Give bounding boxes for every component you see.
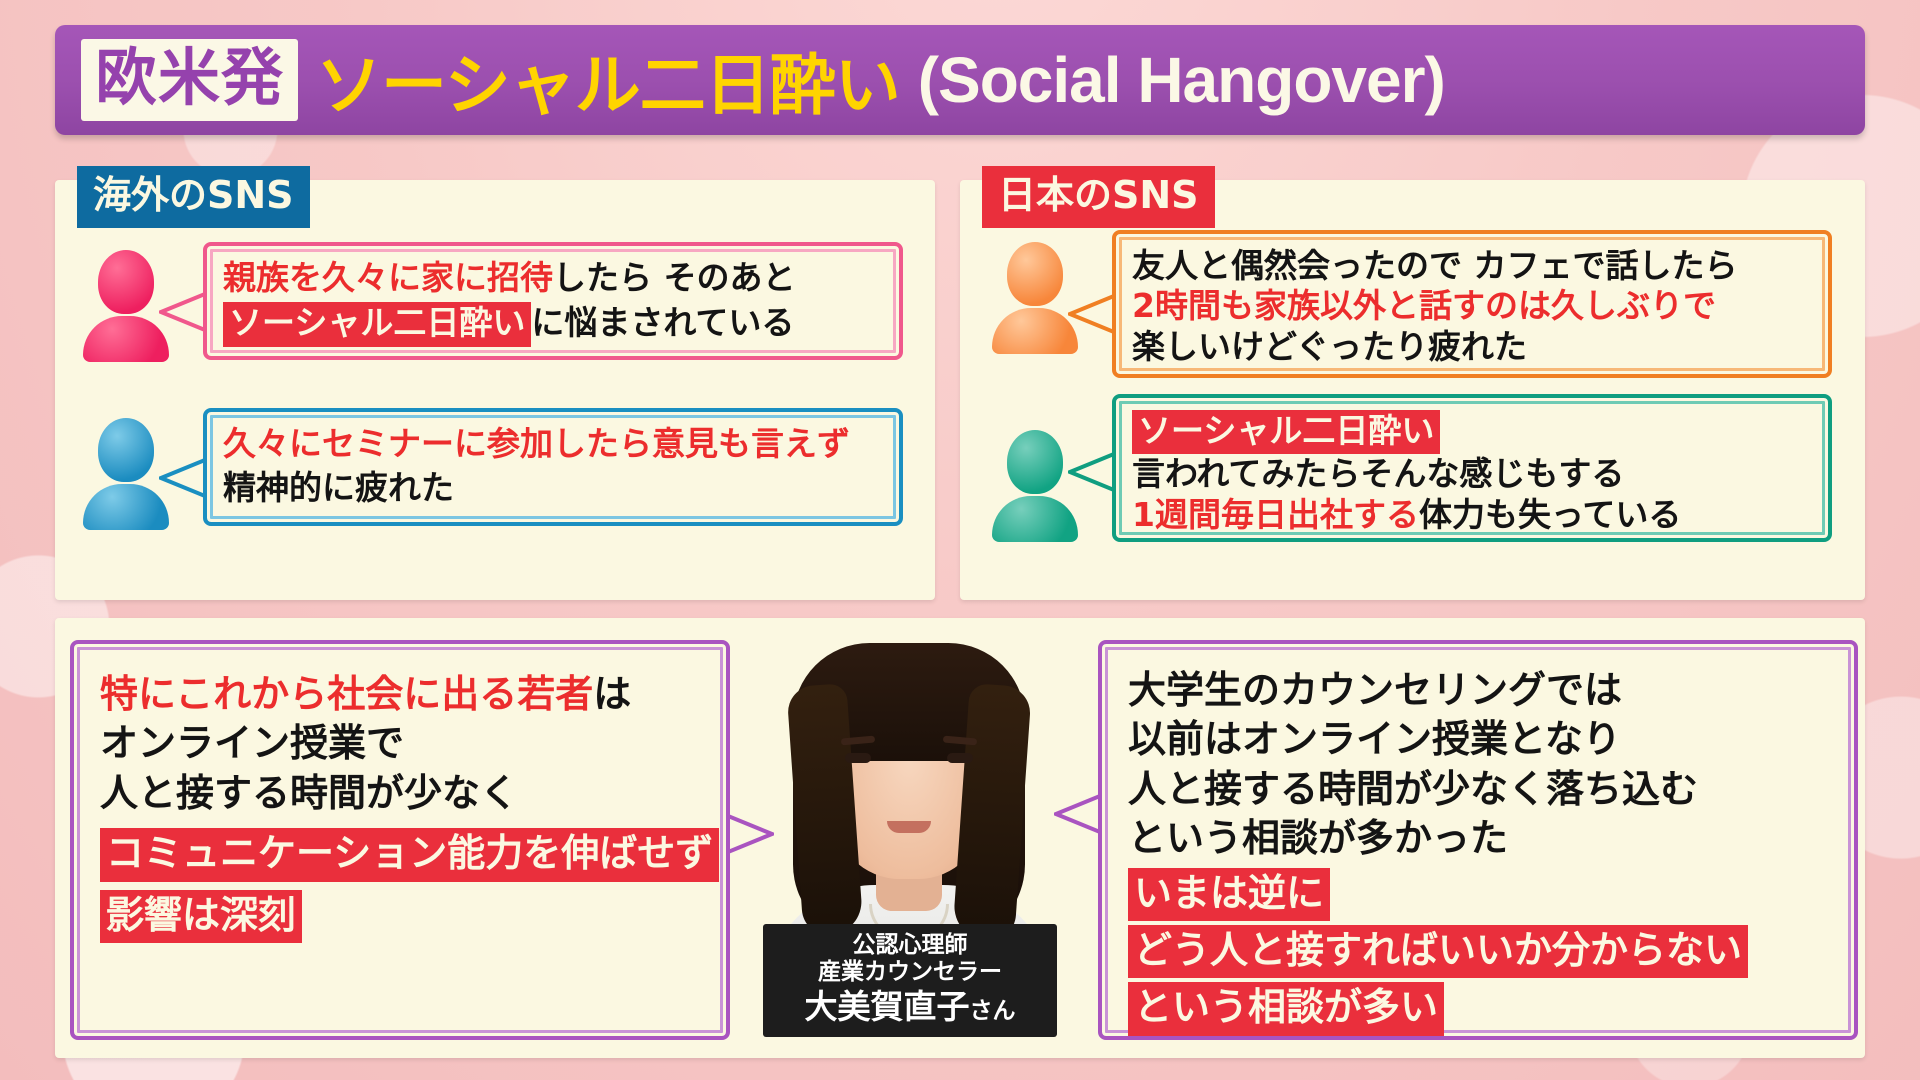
bubble-span-highlight: どう人と接すればいいか分からない [1128, 925, 1748, 978]
bubble-line: という相談が多かった [1128, 814, 1830, 863]
avatar-head [98, 418, 154, 482]
bubble-line: コミュニケーション能力を伸ばせず [100, 828, 702, 881]
bubble-line: 久々にセミナーに参加したら意見も言えず [223, 424, 883, 464]
page-title-english: (Social Hangover) [918, 43, 1445, 117]
speech-bubble-japan-2: ソーシャル二日酔い 言われてみたらそんな感じもする 1週間毎日出社する体力も失っ… [1112, 394, 1832, 542]
expert-name: 大美賀直子 [805, 987, 970, 1026]
bubble-tail-icon [159, 458, 205, 498]
person-icon-blue [83, 418, 169, 530]
panel-tag-overseas: 海外のSNS [77, 166, 310, 228]
bubble-line: 特にこれから社会に出る若者は [100, 670, 702, 719]
expert-name-suffix: さん [970, 998, 1016, 1024]
avatar-head [1007, 242, 1063, 306]
expert-portrait-block: 公認心理師 産業カウンセラー 大美賀直子さん [735, 625, 1085, 1045]
mouth [887, 821, 931, 833]
speech-bubble-japan-1: 友人と偶然会ったので カフェで話したら 2時間も家族以外と話すのは久しぶりで 楽… [1112, 230, 1832, 378]
bubble-line: どう人と接すればいいか分からない [1128, 925, 1830, 978]
expert-name-row: 大美賀直子さん [769, 987, 1051, 1027]
bubble-line: 親族を久々に家に招待したら そのあと [223, 258, 883, 298]
bubble-line: 1週間毎日出社する体力も失っている [1132, 495, 1812, 535]
panel-tag-japan: 日本のSNS [982, 166, 1215, 228]
title-origin-tag: 欧米発 [81, 39, 298, 121]
bubble-line: 人と接する時間が少なく落ち込む [1128, 765, 1830, 814]
bubble-span: に悩まされている [531, 303, 794, 342]
bubble-line: ソーシャル二日酔いに悩まされている [223, 302, 883, 346]
bubble-line: 2時間も家族以外と話すのは久しぶりで [1132, 286, 1812, 326]
bubble-span: したら そのあと [553, 258, 796, 297]
bubble-line: ソーシャル二日酔い [1132, 410, 1812, 454]
avatar-head [98, 250, 154, 314]
bubble-tail-icon [159, 292, 205, 332]
panel-japan-sns: 日本のSNS 友人と偶然会ったので カフェで話したら 2時間も家族以外と話すのは… [960, 180, 1865, 600]
speech-bubble-expert-right: 大学生のカウンセリングでは 以前はオンライン授業となり 人と接する時間が少なく落… [1098, 640, 1858, 1040]
speech-bubble-overseas-2: 久々にセミナーに参加したら意見も言えず 精神的に疲れた [203, 408, 903, 526]
bubble-tail-icon [1068, 452, 1114, 492]
avatar-body [83, 484, 169, 530]
bubble-line: 言われてみたらそんな感じもする [1132, 454, 1812, 494]
avatar-head [1007, 430, 1063, 494]
person-icon-orange [992, 242, 1078, 354]
title-bar: 欧米発 ソーシャル二日酔い (Social Hangover) [55, 25, 1865, 135]
eye-left [845, 753, 871, 763]
bubble-line: 人と接する時間が少なく [100, 769, 702, 818]
avatar-body [992, 496, 1078, 542]
bubble-line: 友人と偶然会ったので カフェで話したら [1132, 246, 1812, 286]
bubble-line: 精神的に疲れた [223, 468, 883, 508]
bubble-line: という相談が多い [1128, 982, 1830, 1035]
eye-right [947, 753, 973, 763]
bubble-line: いまは逆に [1128, 868, 1830, 921]
bubble-span: 1週間毎日出社する [1132, 495, 1419, 534]
expert-caption: 公認心理師 産業カウンセラー 大美賀直子さん [763, 924, 1057, 1037]
expert-qualification-2: 産業カウンセラー [769, 959, 1051, 986]
expert-qualification-1: 公認心理師 [769, 932, 1051, 959]
person-icon-green [992, 430, 1078, 542]
page-title-japanese: ソーシャル二日酔い [316, 32, 900, 128]
bubble-line: オンライン授業で [100, 719, 702, 768]
speech-bubble-expert-left: 特にこれから社会に出る若者は オンライン授業で 人と接する時間が少なく コミュニ… [70, 640, 730, 1040]
bubble-span: 体力も失っている [1419, 495, 1681, 534]
bubble-span-highlight: 影響は深刻 [100, 890, 302, 943]
avatar-body [83, 316, 169, 362]
bubble-span: 特にこれから社会に出る若者 [100, 672, 593, 716]
bubble-span-highlight: という相談が多い [1128, 982, 1444, 1035]
avatar-body [992, 308, 1078, 354]
bubble-span-highlight: コミュニケーション能力を伸ばせず [100, 828, 719, 881]
person-icon-pink [83, 250, 169, 362]
bubble-line: 以前はオンライン授業となり [1128, 715, 1830, 764]
bubble-line: 楽しいけどぐったり疲れた [1132, 327, 1812, 367]
speech-bubble-overseas-1: 親族を久々に家に招待したら そのあと ソーシャル二日酔いに悩まされている [203, 242, 903, 360]
bubble-span-highlight: ソーシャル二日酔い [223, 302, 531, 346]
bubble-span-highlight: いまは逆に [1128, 868, 1330, 921]
bubble-span: 親族を久々に家に招待 [223, 258, 553, 297]
bubble-line: 影響は深刻 [100, 890, 702, 943]
bubble-span-highlight: ソーシャル二日酔い [1132, 410, 1440, 454]
bubble-line: 大学生のカウンセリングでは [1128, 666, 1830, 715]
bubble-tail-icon [1068, 294, 1114, 334]
bubble-span: は [593, 672, 631, 716]
panel-overseas-sns: 海外のSNS 親族を久々に家に招待したら そのあと ソーシャル二日酔いに悩まされ… [55, 180, 935, 600]
